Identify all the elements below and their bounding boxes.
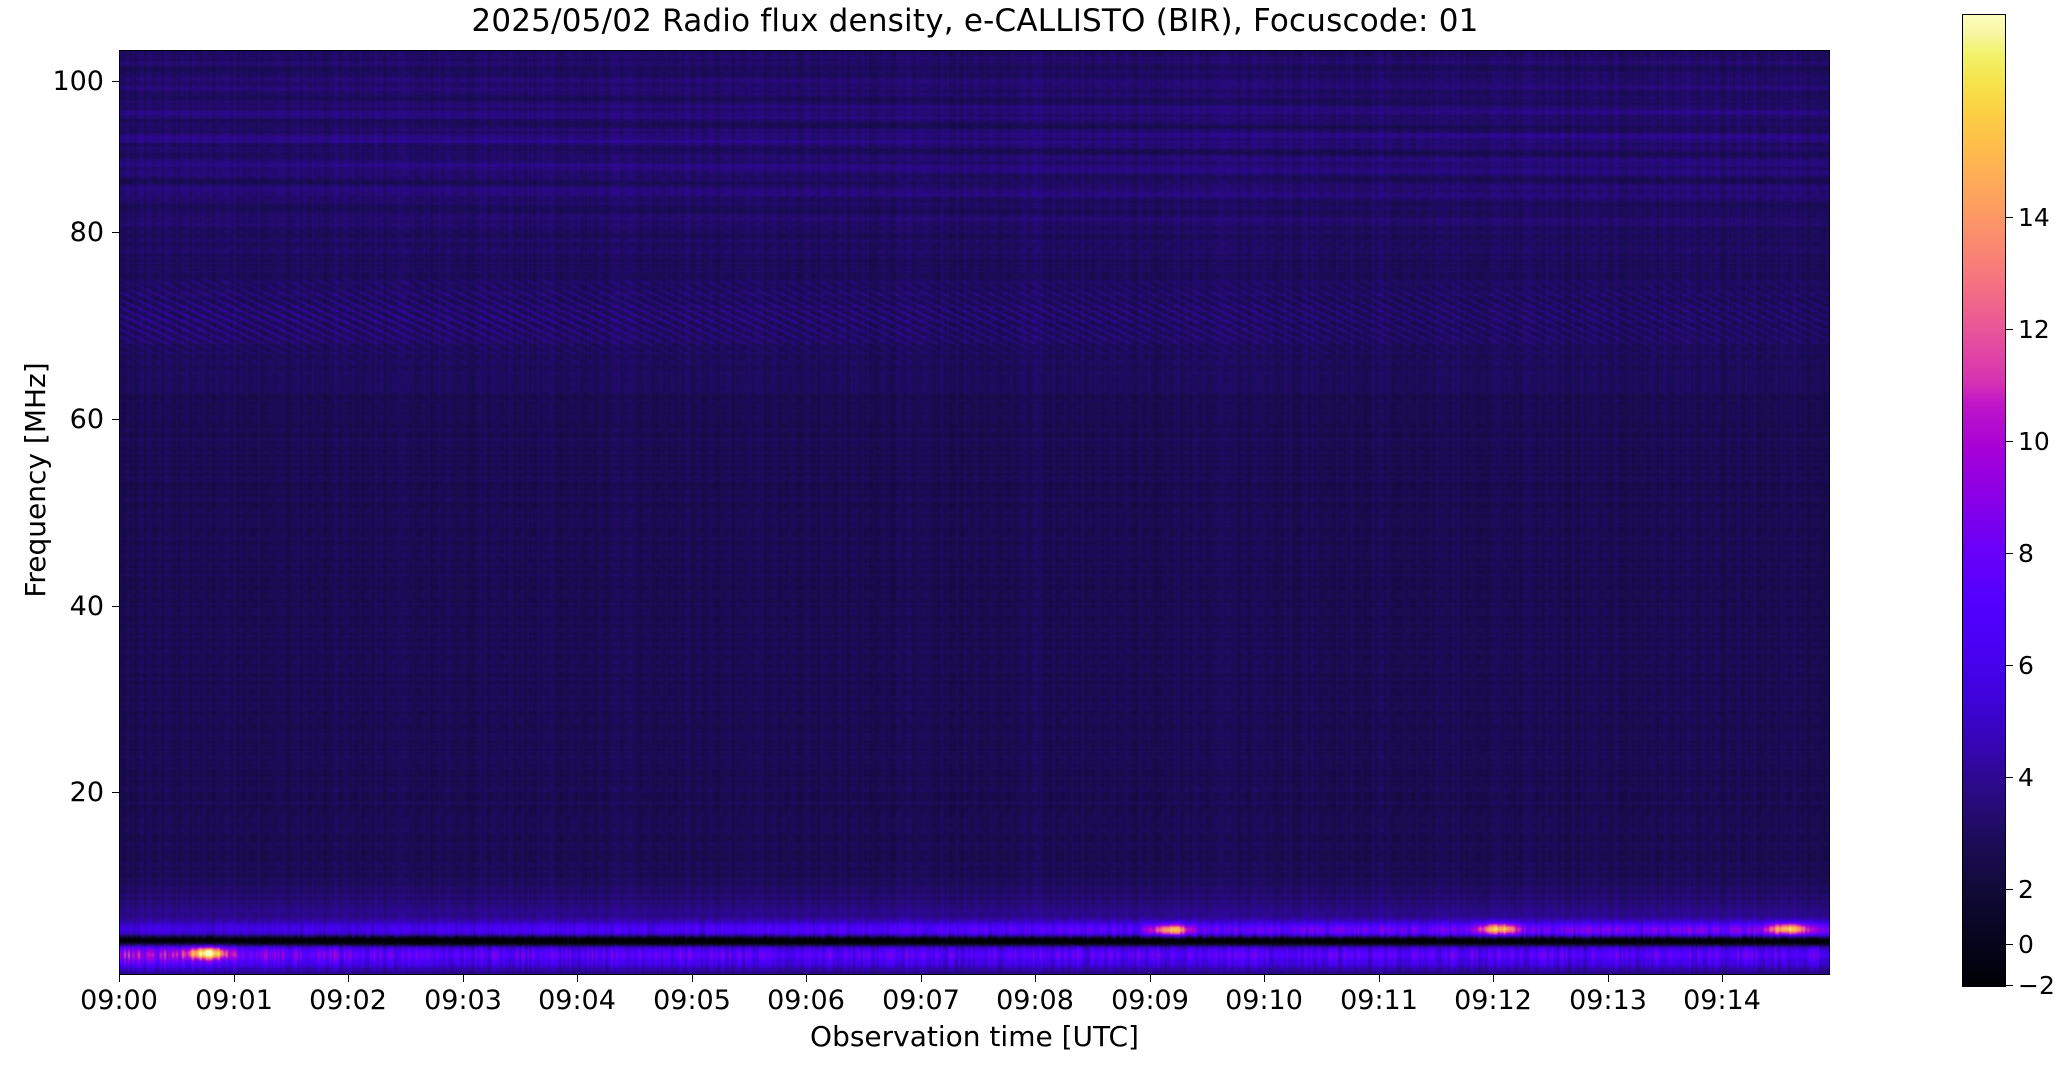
x-tick-mark (1493, 975, 1494, 982)
x-tick-mark (692, 975, 693, 982)
colorbar-tick-mark (2006, 944, 2013, 945)
x-tick-mark (1264, 975, 1265, 982)
colorbar-tick-mark (2006, 329, 2013, 330)
y-axis-title: Frequency [MHz] (21, 220, 51, 740)
colorbar-tick-label: 6 (2018, 653, 2034, 678)
colorbar-tick-label: 0 (2018, 932, 2034, 957)
x-tick-mark (806, 975, 807, 982)
y-tick-mark (112, 232, 119, 233)
x-axis-title: Observation time [UTC] (119, 1022, 1830, 1052)
x-tick-mark (577, 975, 578, 982)
colorbar-tick-mark (2006, 665, 2013, 666)
x-tick-mark (921, 975, 922, 982)
x-tick-mark (234, 975, 235, 982)
x-tick-mark (1608, 975, 1609, 982)
x-tick-mark (348, 975, 349, 982)
colorbar-tick-label: −2 (2018, 973, 2055, 998)
page-title: 2025/05/02 Radio flux density, e-CALLIST… (0, 4, 1950, 38)
colorbar-tick-label: 8 (2018, 541, 2034, 566)
y-tick-mark (112, 419, 119, 420)
colorbar: 14 12 10 8 6 4 2 0 −2 (1962, 14, 2006, 987)
x-tick-mark (463, 975, 464, 982)
colorbar-tick-mark (2006, 441, 2013, 442)
x-tick-mark (119, 975, 120, 982)
x-tick-label: 09:14 (1652, 986, 1792, 1016)
x-tick-mark (1379, 975, 1380, 982)
y-tick-mark (112, 792, 119, 793)
colorbar-tick-label: 4 (2018, 765, 2034, 790)
spectrogram-plot (119, 50, 1830, 975)
colorbar-tick-label: 12 (2018, 317, 2050, 342)
colorbar-tick-label: 10 (2018, 429, 2050, 454)
colorbar-tick-label: 14 (2018, 205, 2050, 230)
x-tick-mark (1150, 975, 1151, 982)
colorbar-tick-mark (2006, 985, 2013, 986)
colorbar-tick-label: 2 (2018, 877, 2034, 902)
x-tick-mark (1035, 975, 1036, 982)
y-tick-label: 20 (14, 779, 104, 806)
y-tick-mark (112, 81, 119, 82)
colorbar-gradient (1962, 14, 2006, 987)
colorbar-tick-mark (2006, 217, 2013, 218)
y-tick-mark (112, 606, 119, 607)
colorbar-tick-mark (2006, 889, 2013, 890)
colorbar-tick-mark (2006, 777, 2013, 778)
spectrogram-image (120, 51, 1829, 974)
x-tick-mark (1722, 975, 1723, 982)
colorbar-tick-mark (2006, 553, 2013, 554)
y-tick-label: 100 (14, 68, 104, 95)
